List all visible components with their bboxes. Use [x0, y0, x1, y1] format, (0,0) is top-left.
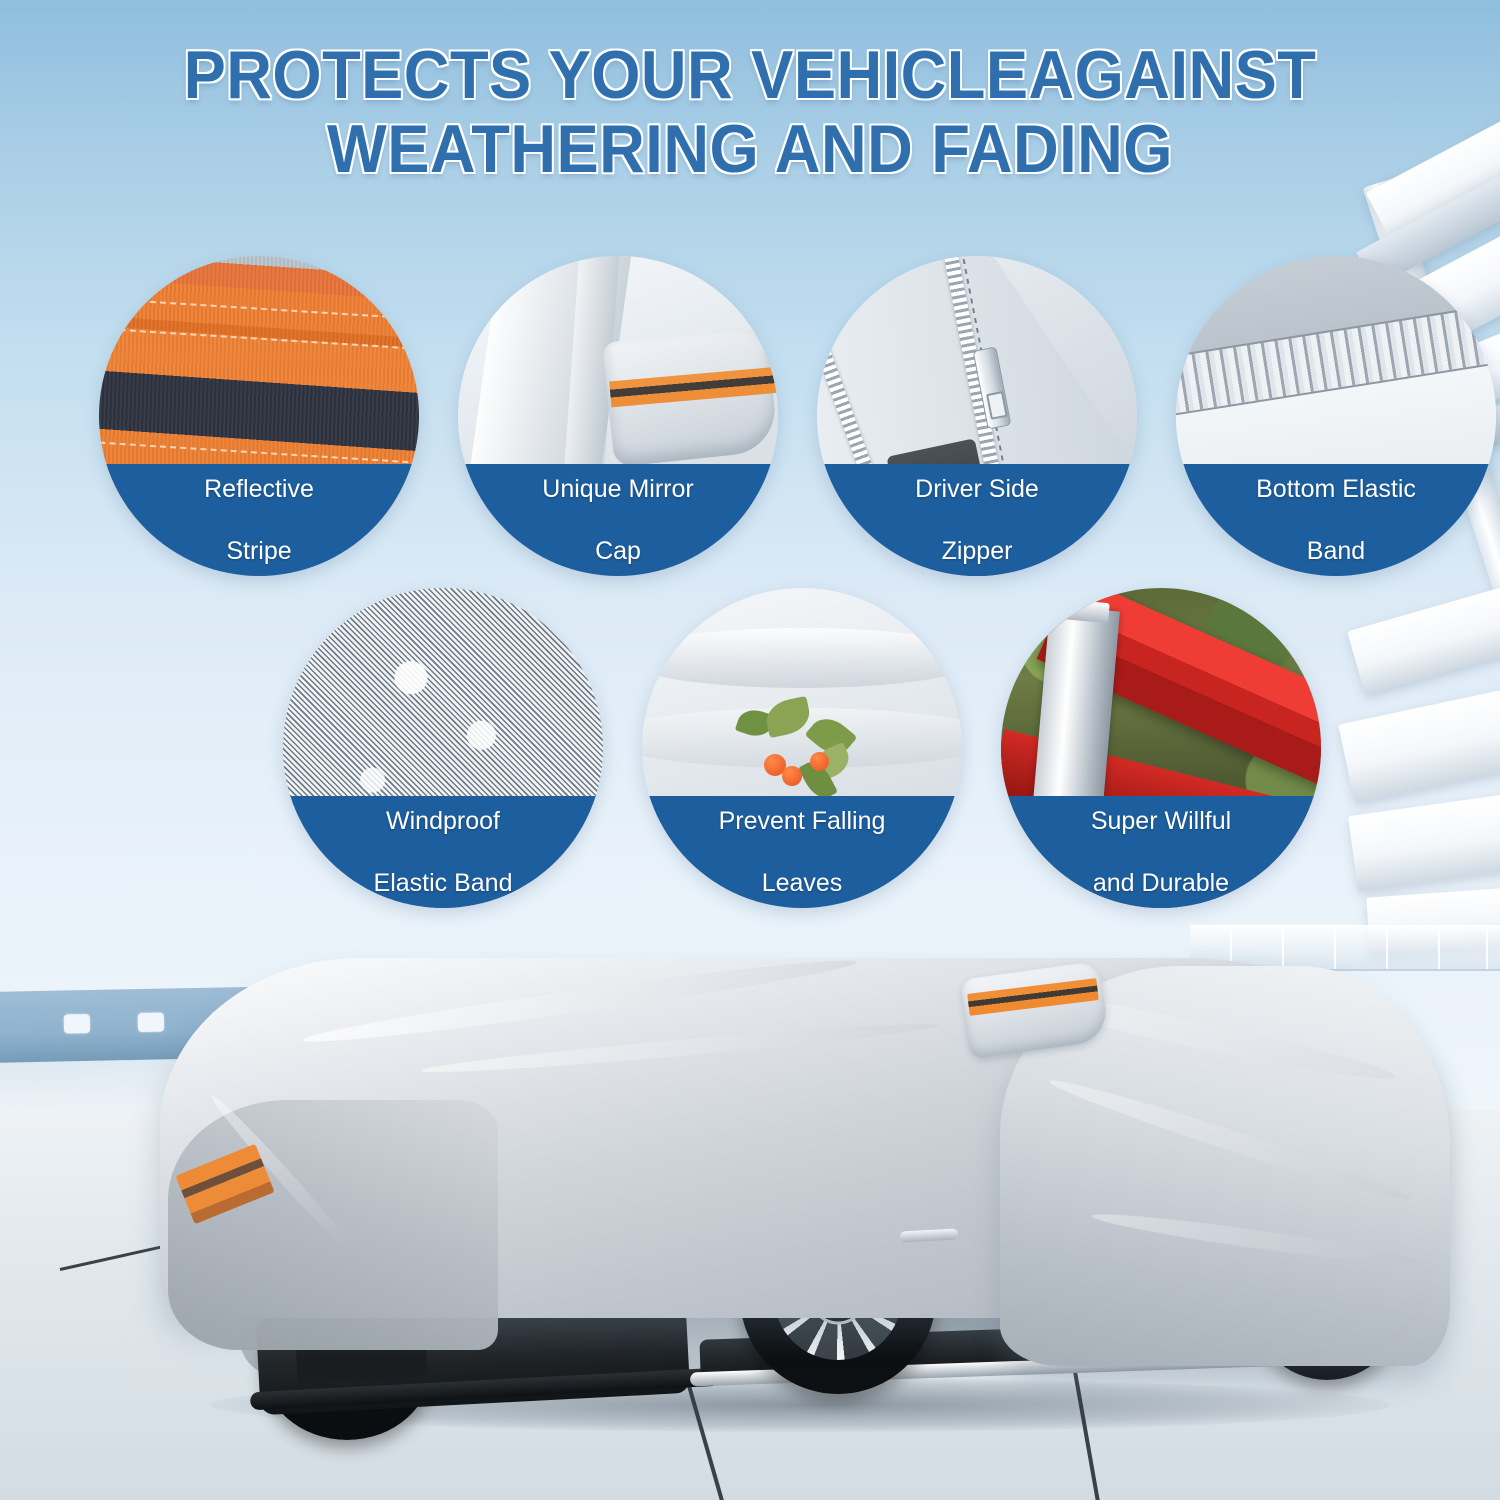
headline-line-1: PROTECTS YOUR VEHICLEAGAINST: [184, 37, 1317, 113]
feature-label-line-2: Cap: [528, 536, 707, 567]
feature-card-windproof-elastic-band[interactable]: Windproof Elastic Band: [283, 588, 603, 908]
headline: PROTECTS YOUR VEHICLEAGAINST WEATHERING …: [53, 38, 1448, 186]
feature-label-line-1: Prevent Falling: [705, 806, 900, 837]
feature-card-reflective-stripe[interactable]: Reflective Stripe: [99, 256, 419, 576]
berry-icon: [810, 752, 829, 771]
feature-label-windproof-elastic-band: Windproof Elastic Band: [283, 796, 603, 908]
feature-label-line-2: Band: [1242, 536, 1430, 567]
feature-card-unique-mirror-cap[interactable]: Unique Mirror Cap: [458, 256, 778, 576]
feature-label-unique-mirror-cap: Unique Mirror Cap: [458, 464, 778, 576]
feature-label-line-2: Elastic Band: [360, 868, 527, 899]
hero-covered-car: [0, 930, 1500, 1500]
feature-label-line-2: and Durable: [1077, 868, 1245, 899]
feature-label-super-willful-and-durable: Super Willful and Durable: [1001, 796, 1321, 908]
feature-card-prevent-falling-leaves[interactable]: Prevent Falling Leaves: [642, 588, 962, 908]
feature-label-line-2: Leaves: [705, 868, 900, 899]
feature-label-bottom-elastic-band: Bottom Elastic Band: [1176, 464, 1496, 576]
feature-label-line-2: Stripe: [190, 536, 328, 567]
feature-label-line-1: Super Willful: [1077, 806, 1245, 837]
feature-card-driver-side-zipper[interactable]: Driver Side Zipper: [817, 256, 1137, 576]
feature-label-reflective-stripe: Reflective Stripe: [99, 464, 419, 576]
feature-card-super-willful-and-durable[interactable]: Super Willful and Durable: [1001, 588, 1321, 908]
feature-label-line-1: Reflective: [190, 474, 328, 505]
feature-label-line-2: Zipper: [901, 536, 1053, 567]
feature-label-prevent-falling-leaves: Prevent Falling Leaves: [642, 796, 962, 908]
berry-icon: [782, 766, 802, 786]
feature-label-line-1: Unique Mirror: [528, 474, 707, 505]
headline-line-2: WEATHERING AND FADING: [53, 112, 1448, 186]
product-feature-image: PROTECTS YOUR VEHICLEAGAINST WEATHERING …: [0, 0, 1500, 1500]
feature-label-line-1: Windproof: [360, 806, 527, 837]
feature-label-line-1: Driver Side: [901, 474, 1053, 505]
feature-card-bottom-elastic-band[interactable]: Bottom Elastic Band: [1176, 256, 1496, 576]
feature-label-line-1: Bottom Elastic: [1242, 474, 1430, 505]
feature-label-driver-side-zipper: Driver Side Zipper: [817, 464, 1137, 576]
